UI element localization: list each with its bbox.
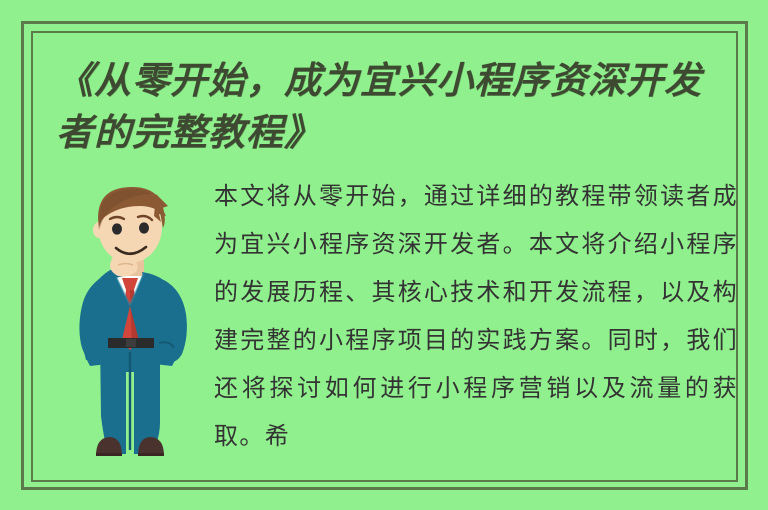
businessman-thinking-icon bbox=[56, 172, 206, 472]
page-title: 《从零开始，成为宜兴小程序资深开发者的完整教程》 bbox=[56, 56, 716, 160]
body-paragraph: 本文将从零开始，通过详细的教程带领读者成为宜兴小程序资深开发者。本文将介绍小程序… bbox=[214, 172, 738, 460]
body-column: 本文将从零开始，通过详细的教程带领读者成为宜兴小程序资深开发者。本文将介绍小程序… bbox=[206, 172, 738, 472]
illustration-column bbox=[56, 172, 206, 472]
poster-canvas: 《从零开始，成为宜兴小程序资深开发者的完整教程》 bbox=[0, 0, 768, 510]
content-area: 本文将从零开始，通过详细的教程带领读者成为宜兴小程序资深开发者。本文将介绍小程序… bbox=[56, 172, 738, 477]
title-block: 《从零开始，成为宜兴小程序资深开发者的完整教程》 bbox=[56, 56, 716, 160]
